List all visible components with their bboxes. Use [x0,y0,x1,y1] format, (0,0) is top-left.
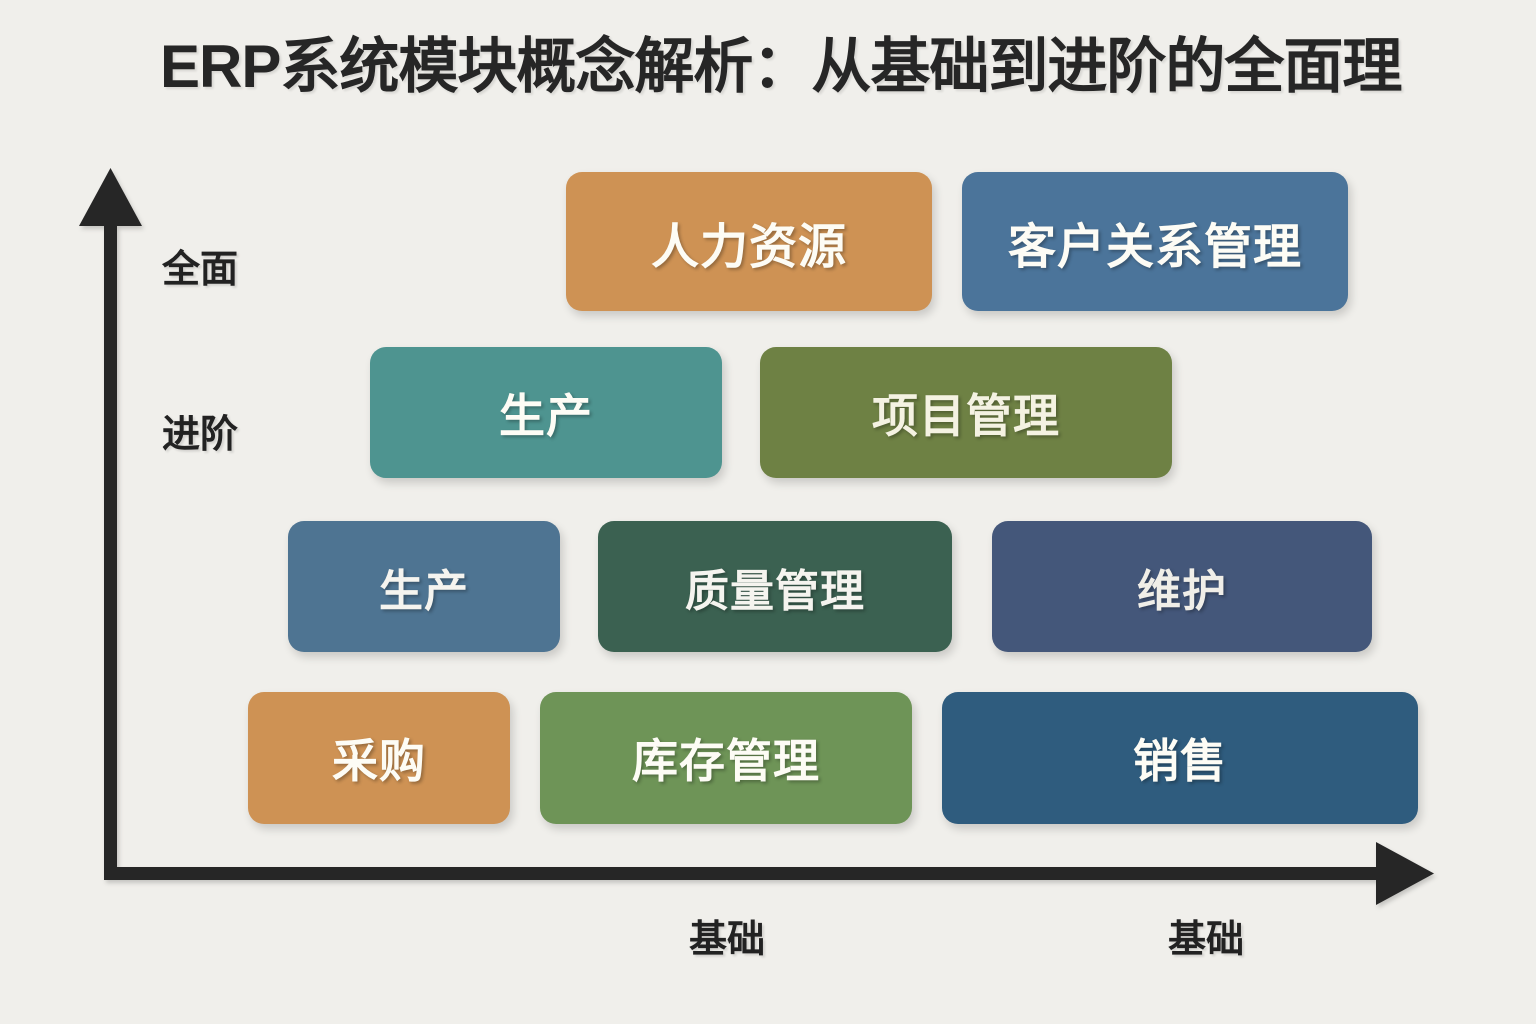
x-tick-label-right: 基础 [1168,908,1244,963]
module-label: 维护 [1137,555,1227,619]
module-label: 销售 [1133,725,1227,791]
page-title: ERP系统模块概念解析：从基础到进阶的全面理 [160,32,1520,101]
diagram-canvas: ERP系统模块概念解析：从基础到进阶的全面理 全面 进阶 基础 基础 人力资源客… [0,0,1536,1024]
module-label: 质量管理 [685,555,865,619]
module-box[interactable]: 维护 [992,521,1372,652]
x-axis-arrow [1376,842,1434,905]
module-box[interactable]: 采购 [248,692,510,824]
module-label: 人力资源 [651,207,847,277]
module-box[interactable]: 客户关系管理 [962,172,1348,311]
module-label: 客户关系管理 [1008,207,1302,277]
x-tick-label-left: 基础 [689,908,765,963]
module-box[interactable]: 库存管理 [540,692,912,824]
module-box[interactable]: 生产 [370,347,722,478]
module-box[interactable]: 人力资源 [566,172,932,311]
y-tick-label-advanced: 进阶 [162,403,238,458]
axis-group [0,0,1536,1024]
module-label: 项目管理 [872,380,1060,446]
module-label: 库存管理 [632,725,820,791]
module-box[interactable]: 销售 [942,692,1418,824]
y-axis-line [104,200,117,880]
module-label: 生产 [499,380,593,446]
y-tick-label-full: 全面 [162,238,238,293]
x-axis-line [104,867,1404,880]
y-axis-arrow [79,168,142,226]
module-label: 采购 [332,725,426,791]
module-box[interactable]: 生产 [288,521,560,652]
module-box[interactable]: 项目管理 [760,347,1172,478]
module-label: 生产 [379,555,469,619]
module-box[interactable]: 质量管理 [598,521,952,652]
